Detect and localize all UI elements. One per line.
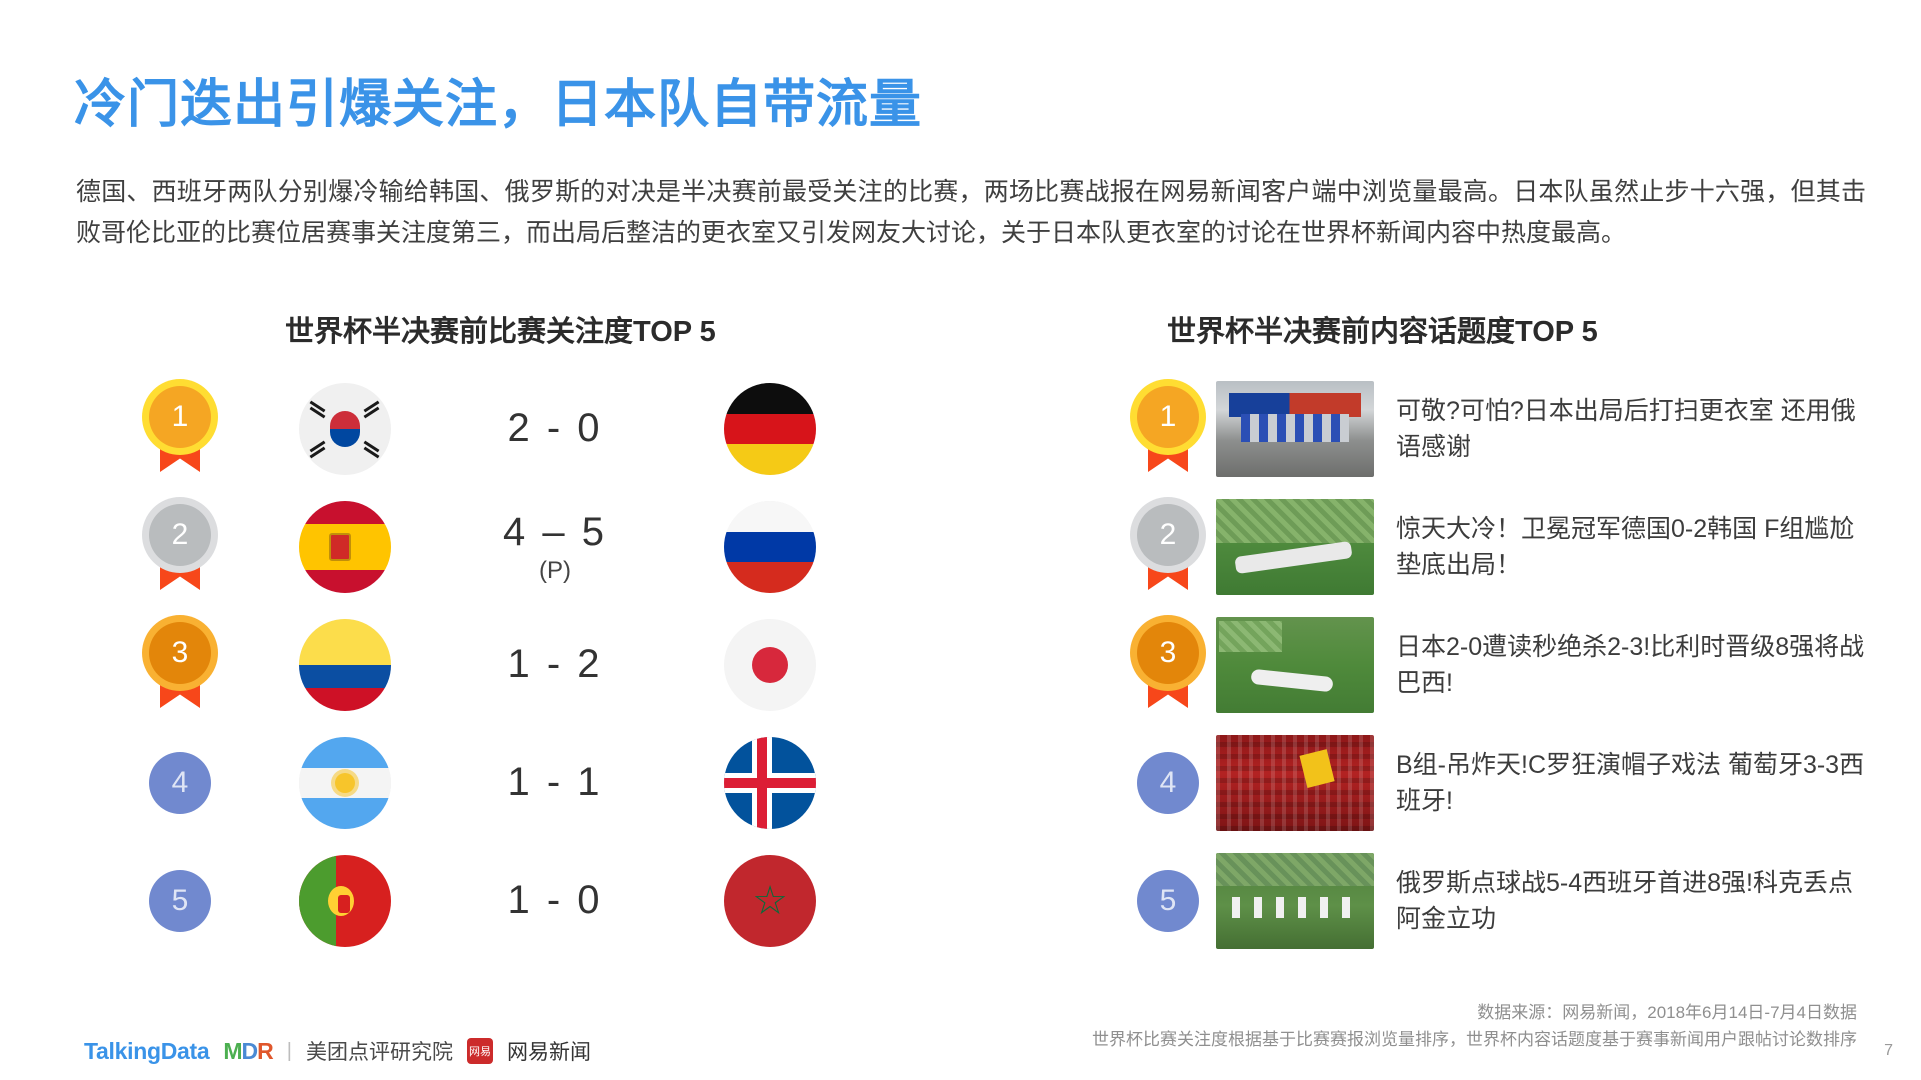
bronze-medal-icon: 3 (149, 622, 211, 708)
page-number: 7 (1884, 1042, 1893, 1060)
score-cell: 4 – 5 (P) (450, 510, 660, 585)
meituan-research-logo: 美团点评研究院 (306, 1036, 453, 1066)
news-thumbnail[interactable] (1216, 853, 1374, 949)
news-headline[interactable]: 俄罗斯点球战5-4西班牙首进8强!科克丢点阿金立功 (1396, 865, 1866, 937)
silver-medal-icon: 2 (149, 504, 211, 590)
rank-cell: 2 (120, 504, 240, 590)
flag-argentina-icon (299, 737, 391, 829)
home-flag-cell (240, 501, 450, 593)
list-item[interactable]: 1 可敬?可怕?日本出局后打扫更衣室 还用俄语感谢 (1120, 370, 1910, 488)
rank-cell: 5 (120, 870, 240, 932)
away-flag-cell (660, 501, 880, 593)
rank-cell: 3 (120, 622, 240, 708)
rank-badge: 5 (1137, 870, 1199, 932)
home-flag-cell (240, 737, 450, 829)
data-source-line-1: 数据来源：网易新闻，2018年6月14日-7月4日数据 (1477, 998, 1857, 1023)
rank-badge: 4 (1137, 752, 1199, 814)
rank-badge: 4 (149, 752, 211, 814)
score-cell: 1 - 0 (450, 878, 660, 925)
flag-morocco-icon: ☆ (724, 855, 816, 947)
news-thumbnail[interactable] (1216, 499, 1374, 595)
table-row: 2 4 – 5 (P) (120, 488, 880, 606)
page-title: 冷门迭出引爆关注，日本队自带流量 (74, 62, 922, 137)
rank-cell: 5 (1120, 870, 1216, 932)
medal-rank-label: 2 (1137, 504, 1199, 566)
list-item[interactable]: 4 B组-吊炸天!C罗狂演帽子戏法 葡萄牙3-3西班牙! (1120, 724, 1910, 842)
netease-badge-icon: 网易 (467, 1038, 493, 1064)
flag-colombia-icon (299, 619, 391, 711)
medal-rank-label: 3 (149, 622, 211, 684)
gold-medal-icon: 1 (149, 386, 211, 472)
flag-russia-icon (724, 501, 816, 593)
news-headline[interactable]: 日本2-0遭读秒绝杀2-3!比利时晋级8强将战巴西! (1396, 629, 1866, 701)
home-flag-cell (240, 619, 450, 711)
flag-japan-icon (724, 619, 816, 711)
data-source-line-2: 世界杯比赛关注度根据基于比赛赛报浏览量排序，世界杯内容话题度基于赛事新闻用户跟帖… (1092, 1025, 1857, 1050)
news-ranking-list: 1 可敬?可怕?日本出局后打扫更衣室 还用俄语感谢 2 惊天大冷！卫冕冠军德国0… (1120, 370, 1910, 960)
rank-cell: 3 (1120, 622, 1216, 708)
home-flag-cell (240, 383, 450, 475)
away-flag-cell (660, 737, 880, 829)
flag-south-korea-icon (299, 383, 391, 475)
rank-cell: 4 (120, 752, 240, 814)
rank-badge: 5 (149, 870, 211, 932)
table-row: 4 1 - 1 (120, 724, 880, 842)
flag-spain-icon (299, 501, 391, 593)
left-chart-title: 世界杯半决赛前比赛关注度TOP 5 (285, 308, 716, 350)
score-note: (P) (539, 557, 571, 585)
table-row: 1 2 - 0 (120, 370, 880, 488)
medal-rank-label: 3 (1137, 622, 1199, 684)
medal-rank-label: 2 (149, 504, 211, 566)
score-label: 4 – 5 (503, 510, 607, 555)
flag-germany-icon (724, 383, 816, 475)
home-flag-cell (240, 855, 450, 947)
rank-cell: 1 (1120, 386, 1216, 472)
news-thumbnail[interactable] (1216, 381, 1374, 477)
intro-paragraph: 德国、西班牙两队分别爆冷输给韩国、俄罗斯的对决是半决赛前最受关注的比赛，两场比赛… (76, 172, 1866, 254)
match-ranking-list: 1 2 - 0 (120, 370, 880, 960)
footer-logos: TalkingData MDR | 美团点评研究院 网易 网易新闻 (84, 1036, 591, 1066)
score-label: 1 - 2 (507, 642, 602, 687)
slide-root: 冷门迭出引爆关注，日本队自带流量 德国、西班牙两队分别爆冷输给韩国、俄罗斯的对决… (0, 0, 1921, 1080)
news-headline[interactable]: B组-吊炸天!C罗狂演帽子戏法 葡萄牙3-3西班牙! (1396, 747, 1866, 819)
medal-rank-label: 1 (149, 386, 211, 448)
flag-iceland-icon (724, 737, 816, 829)
news-headline[interactable]: 可敬?可怕?日本出局后打扫更衣室 还用俄语感谢 (1396, 393, 1866, 465)
rank-cell: 4 (1120, 752, 1216, 814)
score-label: 1 - 1 (507, 760, 602, 805)
gold-medal-icon: 1 (1137, 386, 1199, 472)
rank-cell: 1 (120, 386, 240, 472)
netease-news-logo: 网易新闻 (507, 1036, 591, 1066)
rank-cell: 2 (1120, 504, 1216, 590)
away-flag-cell (660, 383, 880, 475)
table-row: 3 1 - 2 (120, 606, 880, 724)
mdr-logo: MDR (223, 1038, 272, 1065)
bronze-medal-icon: 3 (1137, 622, 1199, 708)
right-chart-title: 世界杯半决赛前内容话题度TOP 5 (1167, 308, 1598, 350)
away-flag-cell: ☆ (660, 855, 880, 947)
talkingdata-logo: TalkingData (84, 1038, 209, 1065)
table-row: 5 1 - 0 ☆ (120, 842, 880, 960)
medal-rank-label: 1 (1137, 386, 1199, 448)
news-headline[interactable]: 惊天大冷！卫冕冠军德国0-2韩国 F组尴尬垫底出局！ (1396, 511, 1866, 583)
list-item[interactable]: 3 日本2-0遭读秒绝杀2-3!比利时晋级8强将战巴西! (1120, 606, 1910, 724)
score-label: 2 - 0 (507, 406, 602, 451)
news-thumbnail[interactable] (1216, 617, 1374, 713)
list-item[interactable]: 2 惊天大冷！卫冕冠军德国0-2韩国 F组尴尬垫底出局！ (1120, 488, 1910, 606)
score-cell: 1 - 2 (450, 642, 660, 689)
score-cell: 2 - 0 (450, 406, 660, 453)
list-item[interactable]: 5 俄罗斯点球战5-4西班牙首进8强!科克丢点阿金立功 (1120, 842, 1910, 960)
score-cell: 1 - 1 (450, 760, 660, 807)
away-flag-cell (660, 619, 880, 711)
score-label: 1 - 0 (507, 878, 602, 923)
silver-medal-icon: 2 (1137, 504, 1199, 590)
flag-portugal-icon (299, 855, 391, 947)
news-thumbnail[interactable] (1216, 735, 1374, 831)
logo-divider: | (287, 1040, 292, 1063)
